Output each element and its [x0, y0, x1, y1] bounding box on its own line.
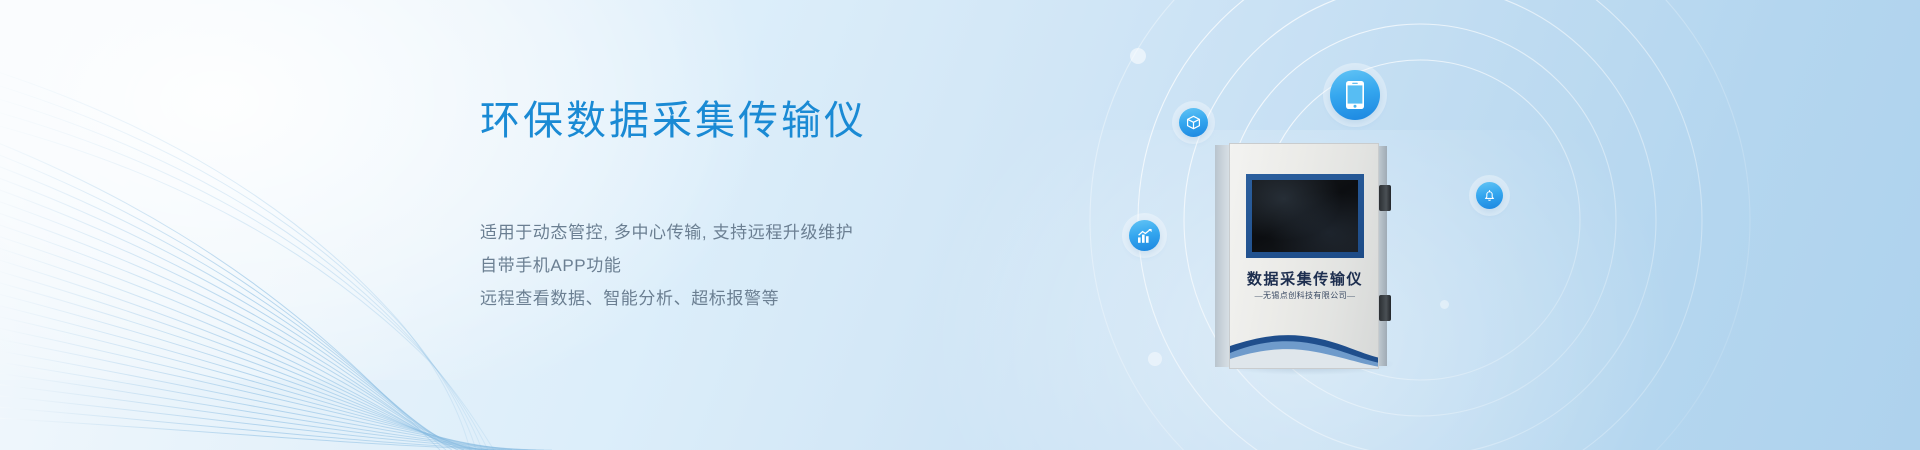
subtitle-line-2: 自带手机APP功能: [480, 249, 1040, 282]
device-label-company: —无锡点创科技有限公司—: [1230, 290, 1379, 301]
decorative-dot: [1440, 300, 1449, 309]
mobile-phone-icon: [1330, 70, 1380, 120]
device-screen: [1252, 180, 1358, 252]
decorative-dot: [1148, 352, 1162, 366]
cube-box-icon: [1179, 108, 1208, 137]
device-right-side-panel: [1378, 146, 1387, 366]
device-wave-graphic: [1230, 312, 1379, 368]
product-hero-banner: 环保数据采集传输仪 适用于动态管控, 多中心传输, 支持远程升级维护 自带手机A…: [0, 0, 1920, 450]
hero-copy: 环保数据采集传输仪 适用于动态管控, 多中心传输, 支持远程升级维护 自带手机A…: [480, 96, 1040, 315]
subtitle-line-3: 远程查看数据、智能分析、超标报警等: [480, 282, 1040, 315]
device-latch-upper: [1379, 185, 1391, 211]
bar-chart-icon: [1129, 220, 1160, 251]
device-front-panel: 数据采集传输仪 —无锡点创科技有限公司—: [1229, 143, 1379, 369]
decorative-dot: [1130, 48, 1146, 64]
alarm-bell-icon: [1476, 182, 1503, 209]
device-screen-bezel: [1246, 174, 1364, 258]
product-device-image: 数据采集传输仪 —无锡点创科技有限公司—: [1215, 143, 1393, 371]
device-label-title: 数据采集传输仪: [1230, 268, 1379, 289]
hero-subtitle: 适用于动态管控, 多中心传输, 支持远程升级维护 自带手机APP功能 远程查看数…: [480, 216, 1040, 315]
subtitle-line-1: 适用于动态管控, 多中心传输, 支持远程升级维护: [480, 216, 1040, 249]
page-title: 环保数据采集传输仪: [480, 96, 1040, 146]
device-latch-lower: [1379, 295, 1391, 321]
